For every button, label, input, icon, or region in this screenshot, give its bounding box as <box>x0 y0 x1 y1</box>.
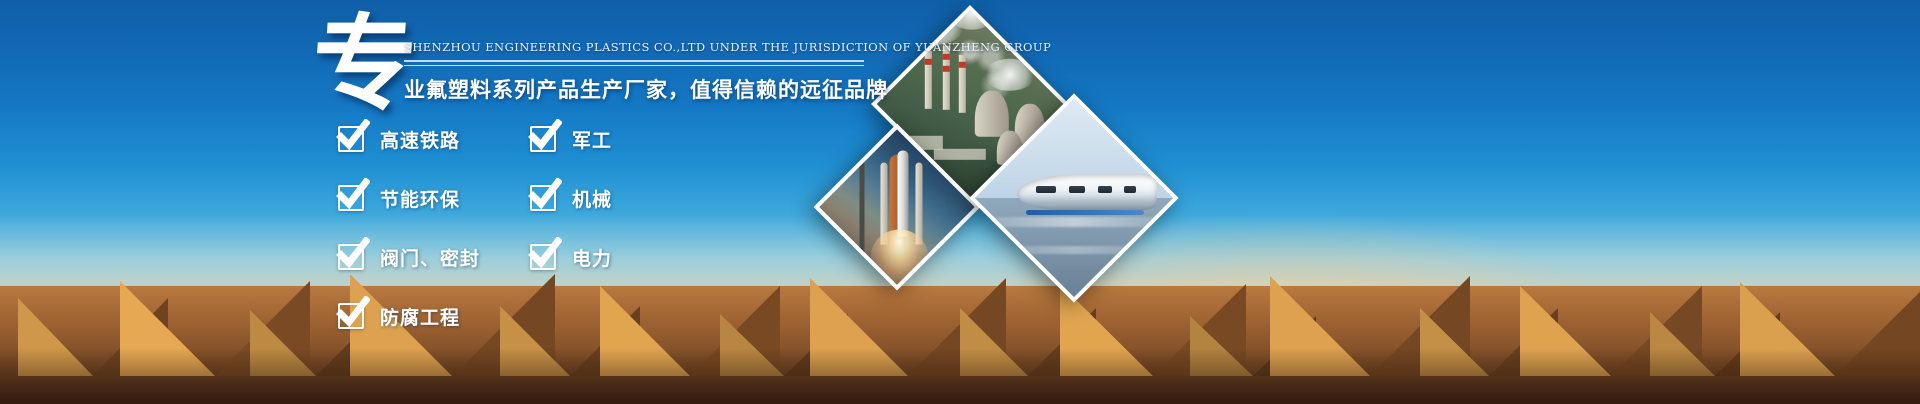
smokestack-2 <box>943 46 950 110</box>
chinese-tagline: 业氟塑料系列产品生产厂家，值得信赖的远征品牌 <box>404 74 874 104</box>
divider-line-thin <box>404 65 864 66</box>
feature-column-left: 高速铁路节能环保阀门、密封防腐工程 <box>338 120 480 356</box>
checkbox-checked-icon[interactable] <box>530 244 556 270</box>
feature-item-label: 防腐工程 <box>380 303 460 330</box>
feature-item-label: 阀门、密封 <box>380 244 480 271</box>
checkbox-checked-icon[interactable] <box>338 185 364 211</box>
headline-block: SHENZHOU ENGINEERING PLASTICS CO.,LTD UN… <box>404 40 874 104</box>
check-glyph <box>336 296 370 330</box>
feature-item-label: 高速铁路 <box>380 126 460 153</box>
cooling-tower-1 <box>974 91 1008 137</box>
check-glyph <box>336 119 370 153</box>
check-glyph <box>336 237 370 271</box>
feature-item[interactable]: 电力 <box>530 238 612 276</box>
plant-building-2 <box>934 149 986 160</box>
checkbox-checked-icon[interactable] <box>338 126 364 152</box>
feature-item[interactable]: 高速铁路 <box>338 120 480 158</box>
company-english-name: SHENZHOU ENGINEERING PLASTICS CO.,LTD UN… <box>404 40 874 54</box>
checkbox-checked-icon[interactable] <box>530 185 556 211</box>
train-stripe <box>1026 210 1144 215</box>
motion-blur-1 <box>969 217 1178 227</box>
feature-item-label: 电力 <box>572 244 612 271</box>
checkbox-checked-icon[interactable] <box>338 244 364 270</box>
check-glyph <box>528 119 562 153</box>
divider-line-thick <box>404 60 864 62</box>
solid-booster-right <box>916 162 923 244</box>
steam-plume-3 <box>983 59 1035 91</box>
checkbox-checked-icon[interactable] <box>530 126 556 152</box>
launch-gantry <box>860 162 865 259</box>
train-window-4 <box>1124 186 1136 193</box>
promo-banner: 专 SHENZHOU ENGINEERING PLASTICS CO.,LTD … <box>0 0 1920 404</box>
feature-item[interactable]: 机械 <box>530 179 612 217</box>
checkbox-checked-icon[interactable] <box>338 303 364 329</box>
divider-rule <box>404 60 874 66</box>
feature-item-label: 军工 <box>572 126 612 153</box>
ground-shadow <box>0 348 1920 404</box>
feature-item[interactable]: 军工 <box>530 120 612 158</box>
train-window-2 <box>1069 186 1085 193</box>
feature-item-label: 节能环保 <box>380 185 460 212</box>
smokestack-3 <box>959 55 966 113</box>
train-window-1 <box>1036 186 1056 193</box>
feature-item[interactable]: 防腐工程 <box>338 297 480 335</box>
shuttle-orbiter <box>897 151 908 237</box>
feature-item[interactable]: 阀门、密封 <box>338 238 480 276</box>
feature-item-label: 机械 <box>572 185 612 212</box>
feature-item[interactable]: 节能环保 <box>338 179 480 217</box>
check-glyph <box>336 178 370 212</box>
check-glyph <box>528 178 562 212</box>
train-window-3 <box>1098 186 1112 193</box>
feature-column-right: 军工机械电力 <box>530 120 612 297</box>
check-glyph <box>528 237 562 271</box>
